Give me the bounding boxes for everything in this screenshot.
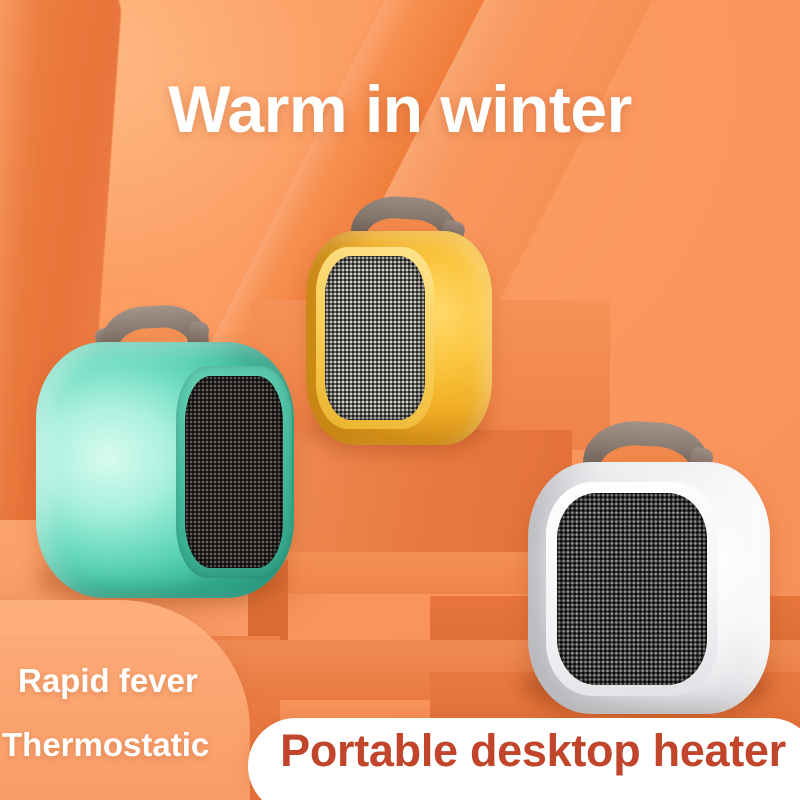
product-yellow-heater[interactable] [300,193,500,448]
product-green-heater[interactable] [28,300,300,600]
green-heater-grille-mesh [185,376,283,568]
headline-title: Warm in winter [0,76,800,142]
product-ad-poster: Warm in winter Rapid fever Thermostatic … [0,0,800,800]
yellow-heater-grille-mesh [325,256,425,420]
banner-label: Portable desktop heater [248,718,800,784]
feature-label-rapid-fever: Rapid fever [18,662,198,700]
white-heater-grille-mesh [557,493,707,685]
feature-label-thermostatic: Thermostatic [2,726,209,764]
product-white-heater[interactable] [518,418,778,718]
